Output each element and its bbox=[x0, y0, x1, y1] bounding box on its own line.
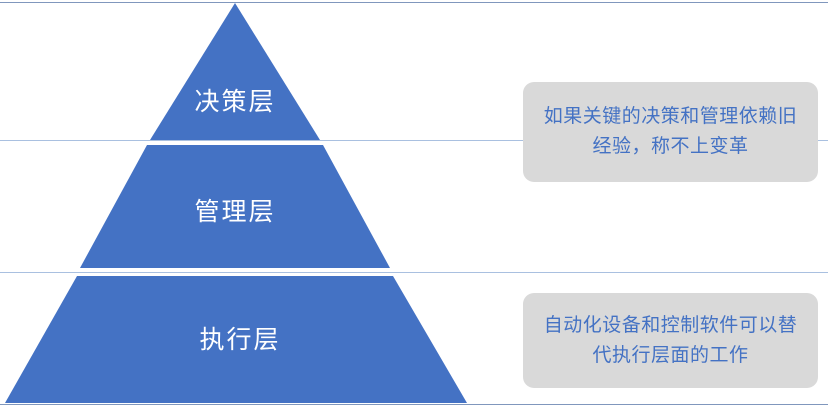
callout-execution: 自动化设备和控制软件可以替代执行层面的工作 bbox=[523, 293, 818, 388]
callout-decision-text: 如果关键的决策和管理依赖旧经验，称不上变革 bbox=[537, 102, 804, 162]
pyramid-layer-bottom-label: 执行层 bbox=[145, 320, 335, 356]
diagram-canvas: 决策层 管理层 执行层 如果关键的决策和管理依赖旧经验，称不上变革 自动化设备和… bbox=[0, 0, 828, 408]
pyramid-layer-top-label: 决策层 bbox=[150, 82, 320, 118]
callout-execution-text: 自动化设备和控制软件可以替代执行层面的工作 bbox=[537, 311, 804, 371]
pyramid-layer-middle-label: 管理层 bbox=[140, 192, 330, 228]
pyramid-layer-top-shape bbox=[150, 3, 320, 140]
callout-decision: 如果关键的决策和管理依赖旧经验，称不上变革 bbox=[523, 82, 818, 182]
